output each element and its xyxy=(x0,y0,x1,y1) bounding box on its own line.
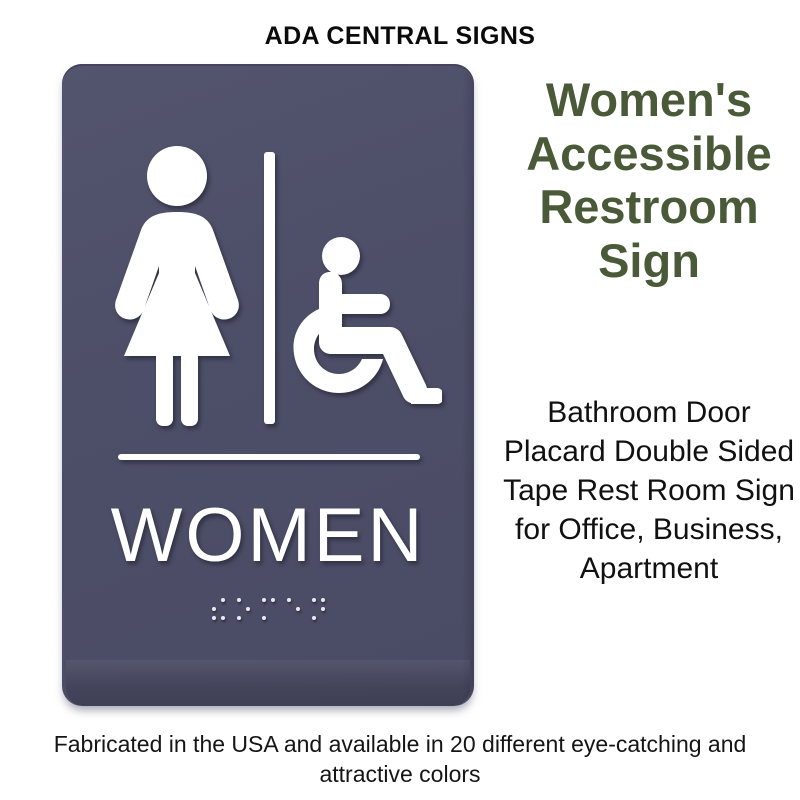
braille-dot xyxy=(287,616,291,620)
braille-dot xyxy=(262,607,266,611)
braille-dot xyxy=(221,616,225,620)
braille-dot xyxy=(296,598,300,602)
vertical-divider xyxy=(264,152,275,424)
braille-dot xyxy=(246,616,250,620)
brand-header: ADA CENTRAL SIGNS xyxy=(0,24,800,49)
braille-dot xyxy=(262,598,266,602)
sign-plate: WOMEN xyxy=(62,64,474,706)
braille-dot xyxy=(212,616,216,620)
woman-pictogram xyxy=(112,144,242,426)
braille-text xyxy=(62,596,474,621)
braille-dot xyxy=(271,616,275,620)
braille-dot xyxy=(312,598,316,602)
pictogram-band xyxy=(62,140,474,434)
braille-dot xyxy=(237,607,241,611)
braille-dot xyxy=(271,607,275,611)
braille-dot xyxy=(312,607,316,611)
braille-dot xyxy=(237,616,241,620)
braille-cell xyxy=(235,596,251,621)
braille-dot xyxy=(321,607,325,611)
braille-dot xyxy=(262,616,266,620)
braille-dot xyxy=(271,598,275,602)
product-headline: Women's Accessible Restroom Sign xyxy=(498,73,800,287)
braille-cell xyxy=(260,596,276,621)
sign-word-women: WOMEN xyxy=(62,498,474,574)
braille-dot xyxy=(321,616,325,620)
braille-dot xyxy=(287,607,291,611)
braille-dot xyxy=(321,598,325,602)
sign-divider-rule xyxy=(118,454,420,460)
braille-dot xyxy=(296,616,300,620)
product-sign-image: WOMEN xyxy=(62,64,474,712)
braille-dot xyxy=(246,607,250,611)
braille-dot xyxy=(221,607,225,611)
braille-cell xyxy=(210,596,226,621)
braille-dot xyxy=(237,598,241,602)
product-description: Bathroom Door Placard Double Sided Tape … xyxy=(498,393,800,588)
wheelchair-accessibility-pictogram xyxy=(292,236,442,418)
braille-dot xyxy=(212,607,216,611)
braille-dot xyxy=(246,598,250,602)
braille-dot xyxy=(287,598,291,602)
braille-cell xyxy=(310,596,326,621)
braille-dot xyxy=(296,607,300,611)
sign-bevel-bottom xyxy=(66,660,470,706)
braille-dot xyxy=(221,598,225,602)
footer-caption: Fabricated in the USA and available in 2… xyxy=(30,730,770,790)
braille-dot xyxy=(212,598,216,602)
braille-dot xyxy=(312,616,316,620)
braille-cell xyxy=(285,596,301,621)
